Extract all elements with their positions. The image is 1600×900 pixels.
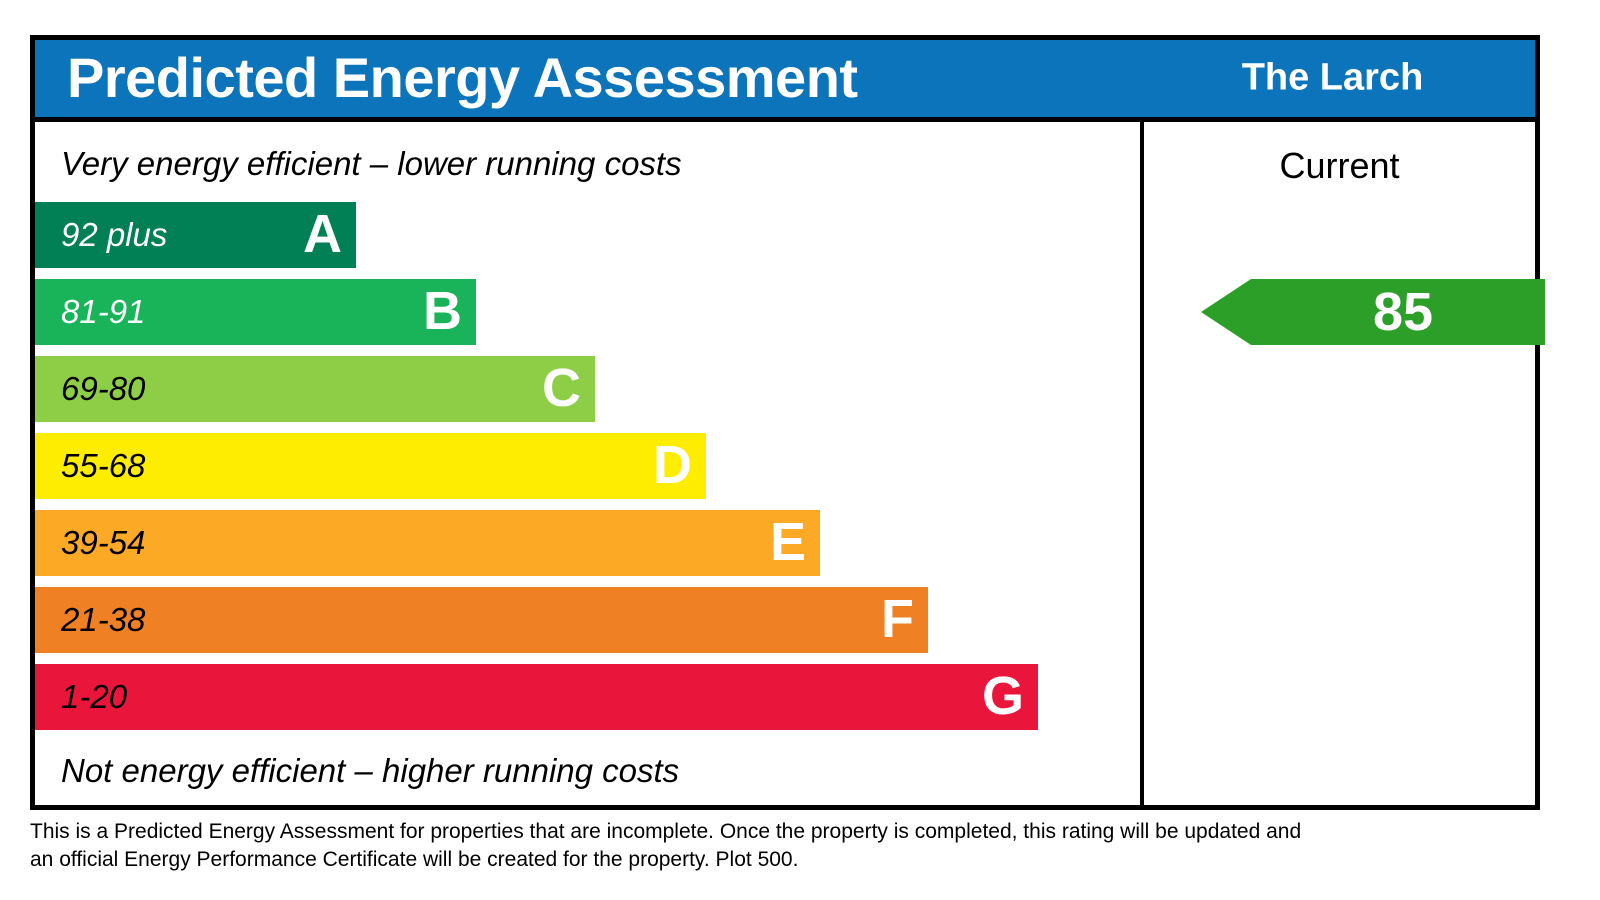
energy-efficiency-scale: Very energy efficient – lower running co…: [35, 122, 1140, 805]
band-row-e: 39-54E: [35, 510, 820, 576]
band-letter-f: F: [881, 592, 914, 646]
band-range-b: 81-91: [61, 293, 145, 331]
current-rating-arrow: 85: [1201, 279, 1545, 345]
band-letter-b: B: [423, 284, 462, 338]
band-range-d: 55-68: [61, 447, 145, 485]
band-row-d: 55-68D: [35, 433, 706, 499]
band-range-e: 39-54: [61, 524, 145, 562]
header-bar: Predicted Energy Assessment The Larch: [35, 40, 1535, 122]
band-row-a: 92 plusA: [35, 202, 356, 268]
predicted-energy-assessment-chart: Predicted Energy Assessment The Larch Ve…: [0, 0, 1600, 900]
band-letter-g: G: [982, 669, 1024, 723]
band-letter-a: A: [303, 207, 342, 261]
band-row-g: 1-20G: [35, 664, 1038, 730]
scale-bottom-caption: Not energy efficient – higher running co…: [61, 752, 679, 790]
band-row-f: 21-38F: [35, 587, 928, 653]
page-title: Predicted Energy Assessment: [67, 45, 858, 110]
band-range-g: 1-20: [61, 678, 127, 716]
current-rating-panel: Current 85: [1144, 122, 1535, 805]
certificate-frame: Predicted Energy Assessment The Larch Ve…: [30, 35, 1540, 810]
band-row-b: 81-91B: [35, 279, 476, 345]
scale-top-caption: Very energy efficient – lower running co…: [61, 145, 682, 183]
current-rating-value: 85: [1201, 279, 1545, 345]
band-letter-c: C: [542, 361, 581, 415]
certificate-body: Very energy efficient – lower running co…: [35, 122, 1535, 805]
band-range-a: 92 plus: [61, 216, 167, 254]
band-letter-d: D: [653, 438, 692, 492]
band-row-c: 69-80C: [35, 356, 595, 422]
current-column-heading: Current: [1144, 145, 1535, 187]
property-name: The Larch: [1135, 56, 1530, 99]
band-range-f: 21-38: [61, 601, 145, 639]
footer-note: This is a Predicted Energy Assessment fo…: [30, 818, 1320, 874]
band-range-c: 69-80: [61, 370, 145, 408]
band-letter-e: E: [770, 515, 806, 569]
